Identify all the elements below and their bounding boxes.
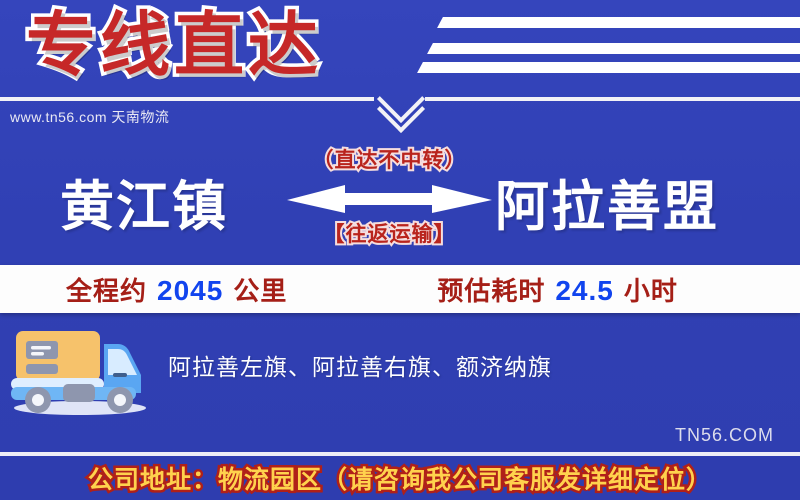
watermark-label: TN56.COM [675, 425, 774, 446]
direct-service-tag: （直达不中转） [287, 144, 492, 174]
decorative-stripe-3 [417, 62, 800, 73]
site-url-label: www.tn56.com 天南物流 [10, 107, 169, 127]
round-trip-tag: 【往返运输】 [287, 218, 492, 248]
duration-label: 预估耗时 [437, 271, 545, 308]
distance-block: 全程约 2045 公里 [66, 271, 287, 308]
destination-city: 阿拉善盟 [495, 162, 719, 241]
route-row: 黄江镇 （直达不中转） 【往返运输】 阿拉善盟 [0, 140, 800, 260]
distance-label: 全程约 [66, 271, 147, 308]
duration-value: 24.5 [555, 275, 614, 307]
route-middle: （直达不中转） 【往返运输】 [287, 140, 492, 260]
info-bar: 全程约 2045 公里 预估耗时 24.5 小时 [0, 265, 800, 313]
delivery-truck-icon [8, 316, 156, 416]
duration-unit: 小时 [624, 271, 678, 308]
header-divider-right [425, 97, 800, 101]
duration-block: 预估耗时 24.5 小时 [437, 271, 678, 308]
origin-city: 黄江镇 [60, 162, 228, 241]
decorative-stripe-1 [437, 17, 800, 28]
decorative-stripe-2 [427, 43, 800, 54]
company-address-label: 公司地址：物流园区（请咨询我公司客服发详细定位） [0, 460, 800, 496]
header-divider-left [0, 97, 374, 101]
page-title: 专线直达 [26, 2, 322, 90]
coverage-areas-label: 阿拉善左旗、阿拉善右旗、额济纳旗 [168, 348, 552, 382]
distance-value: 2045 [157, 275, 223, 307]
distance-unit: 公里 [233, 271, 287, 308]
logistics-poster: 专线直达 www.tn56.com 天南物流 黄江镇 （直达不中转） 【往返运输… [0, 0, 800, 500]
double-arrow-icon [287, 180, 492, 214]
